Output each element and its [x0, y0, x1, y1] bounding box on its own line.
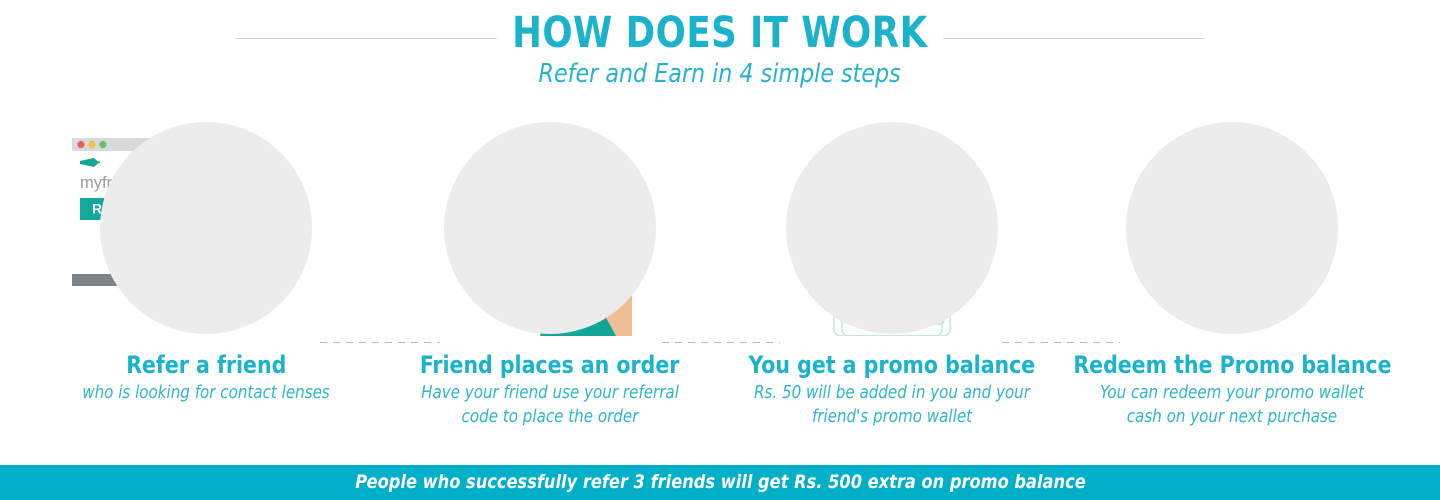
step-refer-a-friend: myfriend@mail.com REFER Refer a friend w… — [36, 118, 376, 404]
step-friend-places-an-order: Friend places an order Have your friend … — [380, 118, 720, 428]
step-3-title: You get a promo balance — [749, 350, 1036, 380]
step-3-subtitle-line2: friend's promo wallet — [729, 406, 1055, 428]
title-row: HOW DOES IT WORK — [0, 10, 1440, 56]
step-3-illustration: ₹50 Add into the wallet — [722, 118, 1062, 336]
step-3-subtitle-line1: Rs. 50 will be added in you and your — [729, 382, 1055, 404]
step-4-circle-bg — [1126, 122, 1338, 334]
step-3-caption: You get a promo balance Rs. 50 will be a… — [722, 350, 1062, 428]
step-2-illustration — [380, 118, 720, 336]
steps-container: myfriend@mail.com REFER Refer a friend w… — [0, 118, 1440, 448]
step-4-subtitle-line2: cash on your next purchase — [1069, 406, 1395, 428]
step-1-title: Refer a friend — [126, 350, 286, 380]
header: HOW DOES IT WORK Refer and Earn in 4 sim… — [0, 10, 1440, 89]
step-3-circle-bg — [786, 122, 998, 334]
page-title: HOW DOES IT WORK — [512, 10, 928, 56]
step-4-title: Redeem the Promo balance — [1073, 350, 1391, 380]
title-rule-left — [235, 38, 497, 39]
subtitle-row: Refer and Earn in 4 simple steps — [0, 56, 1440, 89]
step-4-illustration: ₹ ₹ ₹ — [1062, 118, 1402, 336]
step-2-circle-bg — [444, 122, 656, 334]
step-4-caption: Redeem the Promo balance You can redeem … — [1062, 350, 1402, 428]
step-1-illustration: myfriend@mail.com REFER — [36, 118, 376, 336]
step-1-subtitle: who is looking for contact lenses — [43, 382, 369, 404]
bottom-banner-text: People who successfully refer 3 friends … — [355, 465, 1085, 500]
window-dot-yellow — [88, 141, 95, 148]
title-rule-right — [943, 38, 1205, 39]
step-4-subtitle-line1: You can redeem your promo wallet — [1069, 382, 1395, 404]
window-dot-red — [77, 141, 84, 148]
step-2-subtitle-line2: code to place the order — [387, 406, 713, 428]
bottom-banner: People who successfully refer 3 friends … — [0, 465, 1440, 500]
step-2-caption: Friend places an order Have your friend … — [380, 350, 720, 428]
step-redeem-the-promo-balance: ₹ ₹ ₹ Red — [1062, 118, 1402, 428]
infographic-root: HOW DOES IT WORK Refer and Earn in 4 sim… — [0, 0, 1440, 500]
window-dot-green — [99, 141, 106, 148]
page-subtitle: Refer and Earn in 4 simple steps — [539, 59, 901, 89]
step-1-caption: Refer a friend who is looking for contac… — [36, 350, 376, 404]
step-2-title: Friend places an order — [420, 350, 680, 380]
step-1-circle-bg — [100, 122, 312, 334]
step-you-get-a-promo-balance: ₹50 Add into the wallet You get a promo … — [722, 118, 1062, 428]
dot-decoration — [781, 147, 789, 155]
step-2-subtitle-line1: Have your friend use your referral — [387, 382, 713, 404]
